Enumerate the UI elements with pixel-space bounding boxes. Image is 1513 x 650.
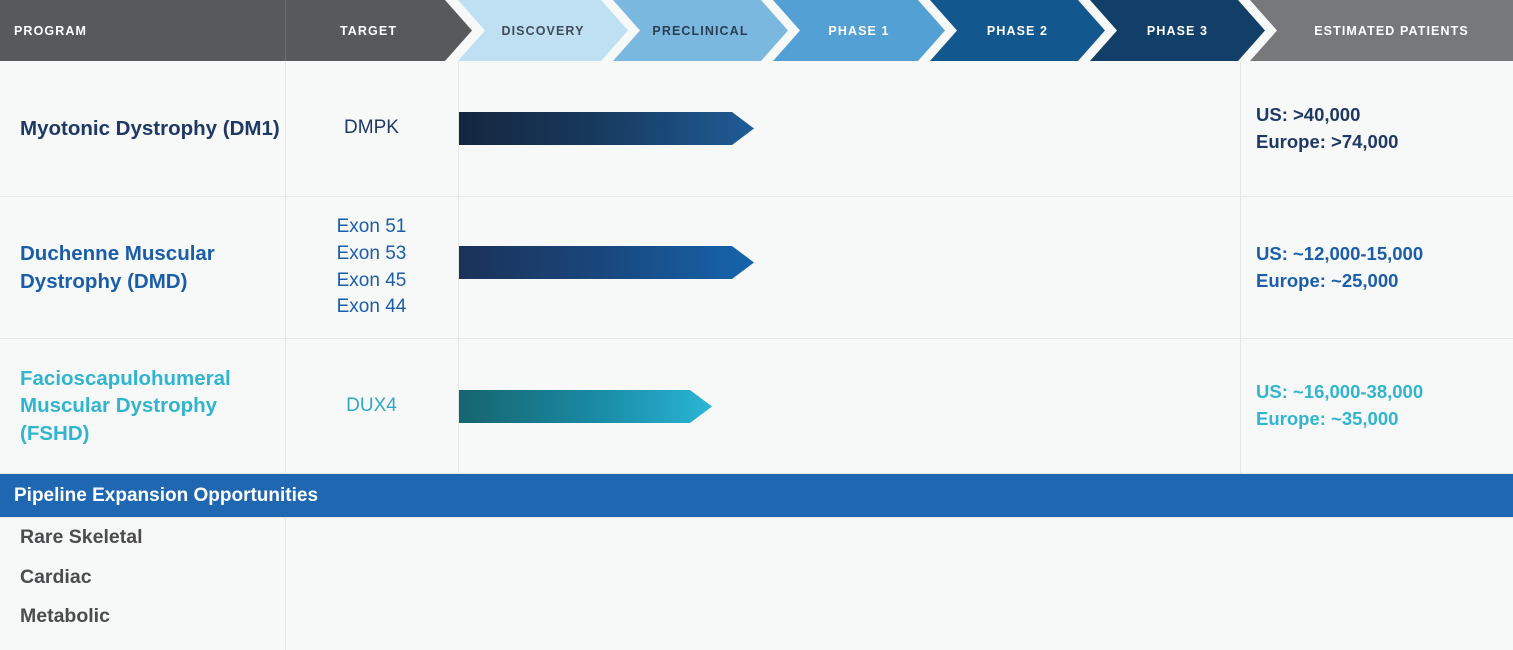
progress-bar-fshd	[459, 390, 712, 423]
patients-europe: Europe: ~35,000	[1256, 406, 1423, 433]
estimated-patients: US: >40,000 Europe: >74,000	[1240, 61, 1513, 196]
header-stage-label: PHASE 3	[1147, 24, 1208, 38]
program-target: DUX4	[285, 339, 458, 473]
pipeline-expansion-title: Pipeline Expansion Opportunities	[14, 485, 318, 507]
progress-bar-dmd	[459, 246, 754, 279]
progress-bar-dm1	[459, 112, 754, 145]
table-row: Duchenne Muscular Dystrophy (DMD) Exon 5…	[0, 197, 1513, 338]
pipeline-chart: PROGRAM TARGET DISCOVERY PRECLINICAL PHA…	[0, 0, 1513, 650]
estimated-patients: US: ~16,000-38,000 Europe: ~35,000	[1240, 339, 1513, 473]
patients-europe: Europe: ~25,000	[1256, 268, 1423, 295]
patients-europe: Europe: >74,000	[1256, 129, 1398, 156]
header-cell-estimated-patients: ESTIMATED PATIENTS	[1250, 0, 1513, 61]
expansion-list: Rare Skeletal Cardiac Metabolic	[20, 528, 420, 647]
estimated-patients: US: ~12,000-15,000 Europe: ~25,000	[1240, 197, 1513, 338]
progress-bar-fill	[459, 112, 754, 145]
header-stage-discovery: DISCOVERY	[458, 0, 628, 61]
table-row: Myotonic Dystrophy (DM1) DMPK US: >40,00…	[0, 61, 1513, 196]
progress-bar-fill	[459, 390, 712, 423]
header-stage-label: PHASE 2	[987, 24, 1048, 38]
patients-us: US: ~12,000-15,000	[1256, 241, 1423, 268]
header-stage-label: DISCOVERY	[501, 24, 584, 38]
header-label-target: TARGET	[340, 0, 397, 61]
header-stage-phase-1: PHASE 1	[773, 0, 945, 61]
row-divider	[0, 517, 1513, 518]
header-stage-preclinical: PRECLINICAL	[613, 0, 788, 61]
program-target: Exon 51 Exon 53 Exon 45 Exon 44	[285, 197, 458, 338]
header-cell-program: PROGRAM TARGET	[0, 0, 472, 61]
progress-bar-fill	[459, 246, 754, 279]
program-name: Facioscapulohumeral Muscular Dystrophy (…	[20, 339, 285, 473]
header-stage-phase-3: PHASE 3	[1090, 0, 1265, 61]
header-stage-phase-2: PHASE 2	[930, 0, 1105, 61]
header-stage-label: PHASE 1	[828, 24, 889, 38]
pipeline-header: PROGRAM TARGET DISCOVERY PRECLINICAL PHA…	[0, 0, 1513, 61]
header-label-program: PROGRAM	[14, 24, 87, 38]
header-stage-label: PRECLINICAL	[652, 24, 748, 38]
pipeline-expansion-banner: Pipeline Expansion Opportunities	[0, 474, 1513, 517]
program-name: Myotonic Dystrophy (DM1)	[20, 61, 285, 196]
patients-us: US: ~16,000-38,000	[1256, 379, 1423, 406]
list-item: Metabolic	[20, 607, 420, 627]
patients-us: US: >40,000	[1256, 102, 1398, 129]
list-item: Rare Skeletal	[20, 528, 420, 548]
program-name: Duchenne Muscular Dystrophy (DMD)	[20, 197, 285, 338]
program-target: DMPK	[285, 61, 458, 196]
header-label-estimated-patients: ESTIMATED PATIENTS	[1314, 24, 1469, 38]
table-row: Facioscapulohumeral Muscular Dystrophy (…	[0, 339, 1513, 473]
list-item: Cardiac	[20, 568, 420, 588]
header-divider	[285, 0, 286, 61]
